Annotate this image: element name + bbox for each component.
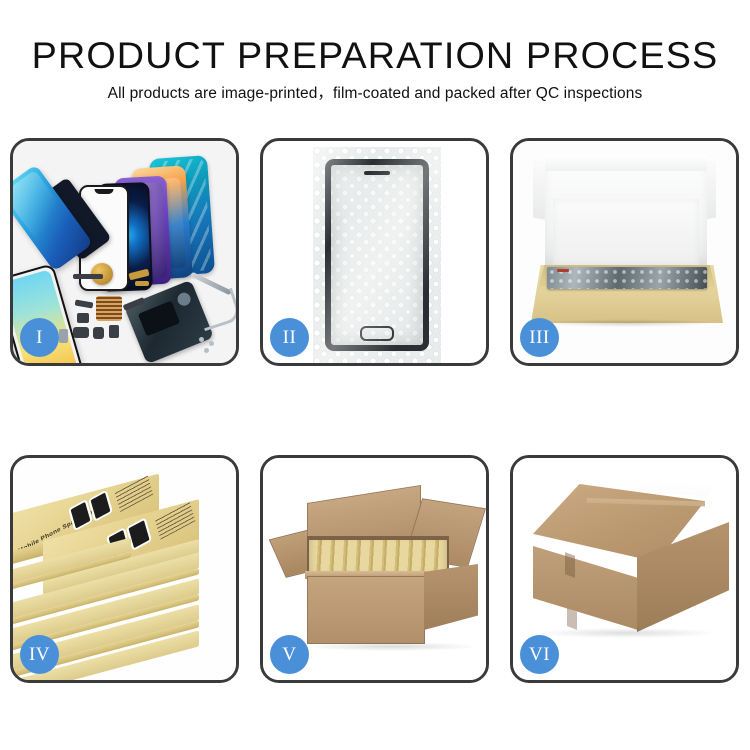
home-button-icon — [360, 326, 394, 341]
foam-insert — [553, 199, 699, 265]
drop-shadow — [537, 628, 717, 638]
phone-screen-icon — [325, 159, 429, 351]
page-header: PRODUCT PREPARATION PROCESS All products… — [0, 0, 750, 120]
process-step-5: V — [260, 455, 489, 683]
drop-shadow — [307, 642, 477, 651]
carton-front-face — [307, 576, 425, 644]
drop-shadow — [537, 319, 717, 327]
process-step-1: I — [10, 138, 239, 366]
page-subtitle: All products are image-printed，film-coat… — [0, 84, 750, 104]
page-title: PRODUCT PREPARATION PROCESS — [0, 36, 750, 76]
screw-b-icon — [209, 341, 214, 346]
process-step-6: VI — [510, 455, 739, 683]
step-badge: III — [520, 318, 559, 357]
carton-front-face — [533, 546, 638, 630]
process-step-2: II — [260, 138, 489, 366]
packed-screen-icon — [547, 267, 707, 289]
process-step-3: III — [510, 138, 739, 366]
step-badge: I — [20, 318, 59, 357]
step-badge: IV — [20, 635, 59, 674]
earpiece-icon — [364, 171, 390, 175]
small-part-e-icon — [109, 325, 119, 338]
screw-c-icon — [204, 348, 209, 353]
screw-a-icon — [199, 337, 204, 342]
connector-grid-icon — [96, 296, 122, 321]
gold-clip-part-icon — [135, 281, 149, 286]
flex-cable-part-icon — [73, 274, 103, 279]
box-spec-lines-rear — [115, 475, 154, 512]
carton-right-face — [424, 564, 478, 630]
box-spec-lines-front — [155, 500, 196, 539]
process-step-grid: I II III — [10, 138, 740, 683]
box-art-screen-b — [91, 493, 111, 520]
step-badge: II — [270, 318, 309, 357]
box-art-screen-d — [128, 520, 149, 548]
carton-seam-lower — [567, 608, 577, 630]
carton-seam-upper — [565, 552, 575, 578]
screen-label-icon — [557, 269, 569, 272]
small-part-c-icon — [73, 327, 89, 338]
sim-tray-icon — [59, 329, 68, 343]
notch-icon — [95, 189, 114, 194]
small-part-d-icon — [93, 327, 104, 339]
small-part-b-icon — [77, 313, 89, 323]
bubble-wrap-sheet — [313, 147, 441, 363]
process-step-4: Mobile Phone Spare Parts Mobile Phone Sp… — [10, 455, 239, 683]
step-badge: VI — [520, 635, 559, 674]
step-badge: V — [270, 635, 309, 674]
